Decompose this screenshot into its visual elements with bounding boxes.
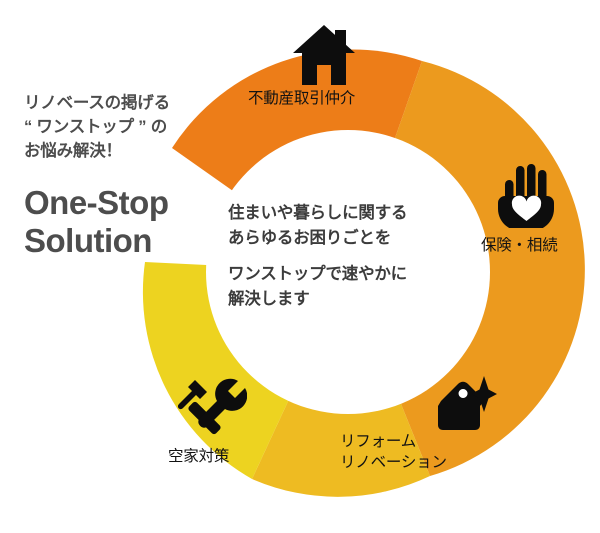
center-line-4: 解決します xyxy=(228,287,458,312)
segment-label-real-estate: 不動産取引仲介 xyxy=(248,88,355,109)
lead-line-3: お悩み解決！ xyxy=(24,140,239,164)
segment-label-renovation: リフォーム リノベーション xyxy=(340,431,447,474)
lead-line-1: リノベースの掲げる xyxy=(24,92,239,116)
house-icon xyxy=(290,24,358,86)
hammer-wrench-icon xyxy=(175,377,247,437)
page-title: One-Stop Solution xyxy=(24,184,239,260)
sparkle-house-icon xyxy=(434,375,498,435)
left-text-block: リノベースの掲げる “ ワンストップ ” の お悩み解決！ One-Stop S… xyxy=(24,92,239,260)
segment-label-insurance: 保険・相続 xyxy=(481,235,558,256)
center-line-2: あらゆるお困りごとを xyxy=(228,226,458,251)
segment-label-renovation-line-2: リノベーション xyxy=(340,452,447,473)
headline-line-2: Solution xyxy=(24,222,239,260)
segment-label-vacant-house: 空家対策 xyxy=(168,446,229,467)
center-line-1: 住まいや暮らしに関する xyxy=(228,201,458,226)
center-text-block: 住まいや暮らしに関する あらゆるお困りごとを ワンストップで速やかに 解決します xyxy=(228,201,458,312)
segment-label-renovation-line-1: リフォーム xyxy=(340,431,447,452)
center-text-gap xyxy=(228,251,458,262)
one-stop-solution-infographic: 不動産取引仲介 保険・相続 リフォーム リノベーション 空家対策 リノベースの掲… xyxy=(0,0,600,533)
lead-line-2: “ ワンストップ ” の xyxy=(24,116,239,140)
center-line-3: ワンストップで速やかに xyxy=(228,262,458,287)
headline-line-1: One-Stop xyxy=(24,184,239,222)
hand-heart-icon xyxy=(497,160,557,228)
